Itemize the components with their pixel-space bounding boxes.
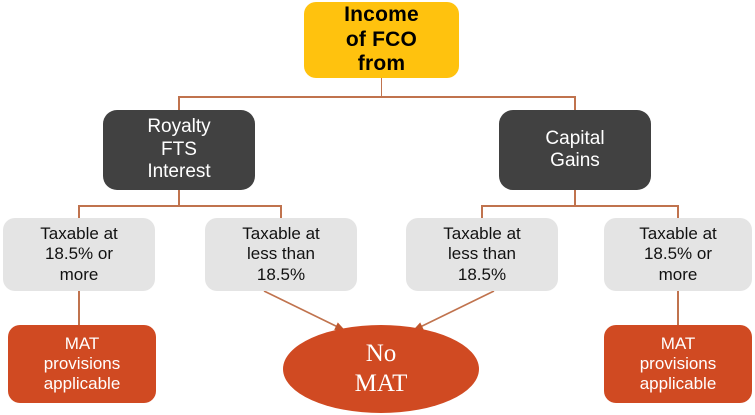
- connector-root-bus: [178, 96, 575, 98]
- node-mat-provisions-applicable-right[interactable]: MAT provisions applicable: [604, 325, 752, 403]
- node-condition-taxable-18-5-or-more-capital-gains[interactable]: Taxable at 18.5% or more: [604, 218, 752, 291]
- arrow-cond-3-to-no-mat: [414, 291, 494, 330]
- connector-root-to-royalty: [178, 96, 180, 111]
- arrow-cond-2-to-no-mat: [264, 291, 344, 330]
- node-condition-4-label: Taxable at 18.5% or more: [639, 224, 717, 284]
- node-no-mat[interactable]: No MAT: [283, 325, 479, 413]
- node-capital-gains-label: Capital Gains: [545, 128, 604, 173]
- connector-royalty-to-cond-2: [280, 205, 282, 219]
- connector-capital-gains-bus: [481, 205, 678, 207]
- node-royalty-fts-interest[interactable]: Royalty FTS Interest: [103, 110, 255, 190]
- node-royalty-fts-interest-label: Royalty FTS Interest: [147, 116, 210, 183]
- node-no-mat-label: No MAT: [355, 339, 408, 400]
- connector-capital-gains-to-cond-3: [481, 205, 483, 219]
- connector-royalty-to-cond-1: [78, 205, 80, 219]
- connector-root-stem: [381, 78, 383, 97]
- node-mat-provisions-applicable-right-label: MAT provisions applicable: [640, 334, 717, 394]
- node-capital-gains[interactable]: Capital Gains: [499, 110, 651, 190]
- node-income-of-fco-label: Income of FCO from: [344, 3, 419, 77]
- connector-capital-gains-stem: [574, 190, 576, 206]
- node-mat-provisions-applicable-left-label: MAT provisions applicable: [44, 334, 121, 394]
- node-mat-provisions-applicable-left[interactable]: MAT provisions applicable: [8, 325, 156, 403]
- node-condition-taxable-less-than-18-5-capital-gains[interactable]: Taxable at less than 18.5%: [406, 218, 558, 291]
- node-condition-3-label: Taxable at less than 18.5%: [443, 224, 521, 284]
- connector-capital-gains-to-cond-4: [677, 205, 679, 219]
- node-income-of-fco[interactable]: Income of FCO from: [304, 2, 459, 78]
- node-condition-1-label: Taxable at 18.5% or more: [40, 224, 118, 284]
- connector-royalty-bus: [78, 205, 281, 207]
- node-condition-taxable-less-than-18-5-royalty[interactable]: Taxable at less than 18.5%: [205, 218, 357, 291]
- connector-royalty-stem: [178, 190, 180, 206]
- node-condition-2-label: Taxable at less than 18.5%: [242, 224, 320, 284]
- connector-cond-4-to-mat-right: [677, 291, 679, 325]
- node-condition-taxable-18-5-or-more-royalty[interactable]: Taxable at 18.5% or more: [3, 218, 155, 291]
- connector-root-to-capital-gains: [574, 96, 576, 111]
- flowchart-canvas: Income of FCO from Royalty FTS Interest …: [0, 0, 755, 415]
- connector-cond-1-to-mat-left: [78, 291, 80, 325]
